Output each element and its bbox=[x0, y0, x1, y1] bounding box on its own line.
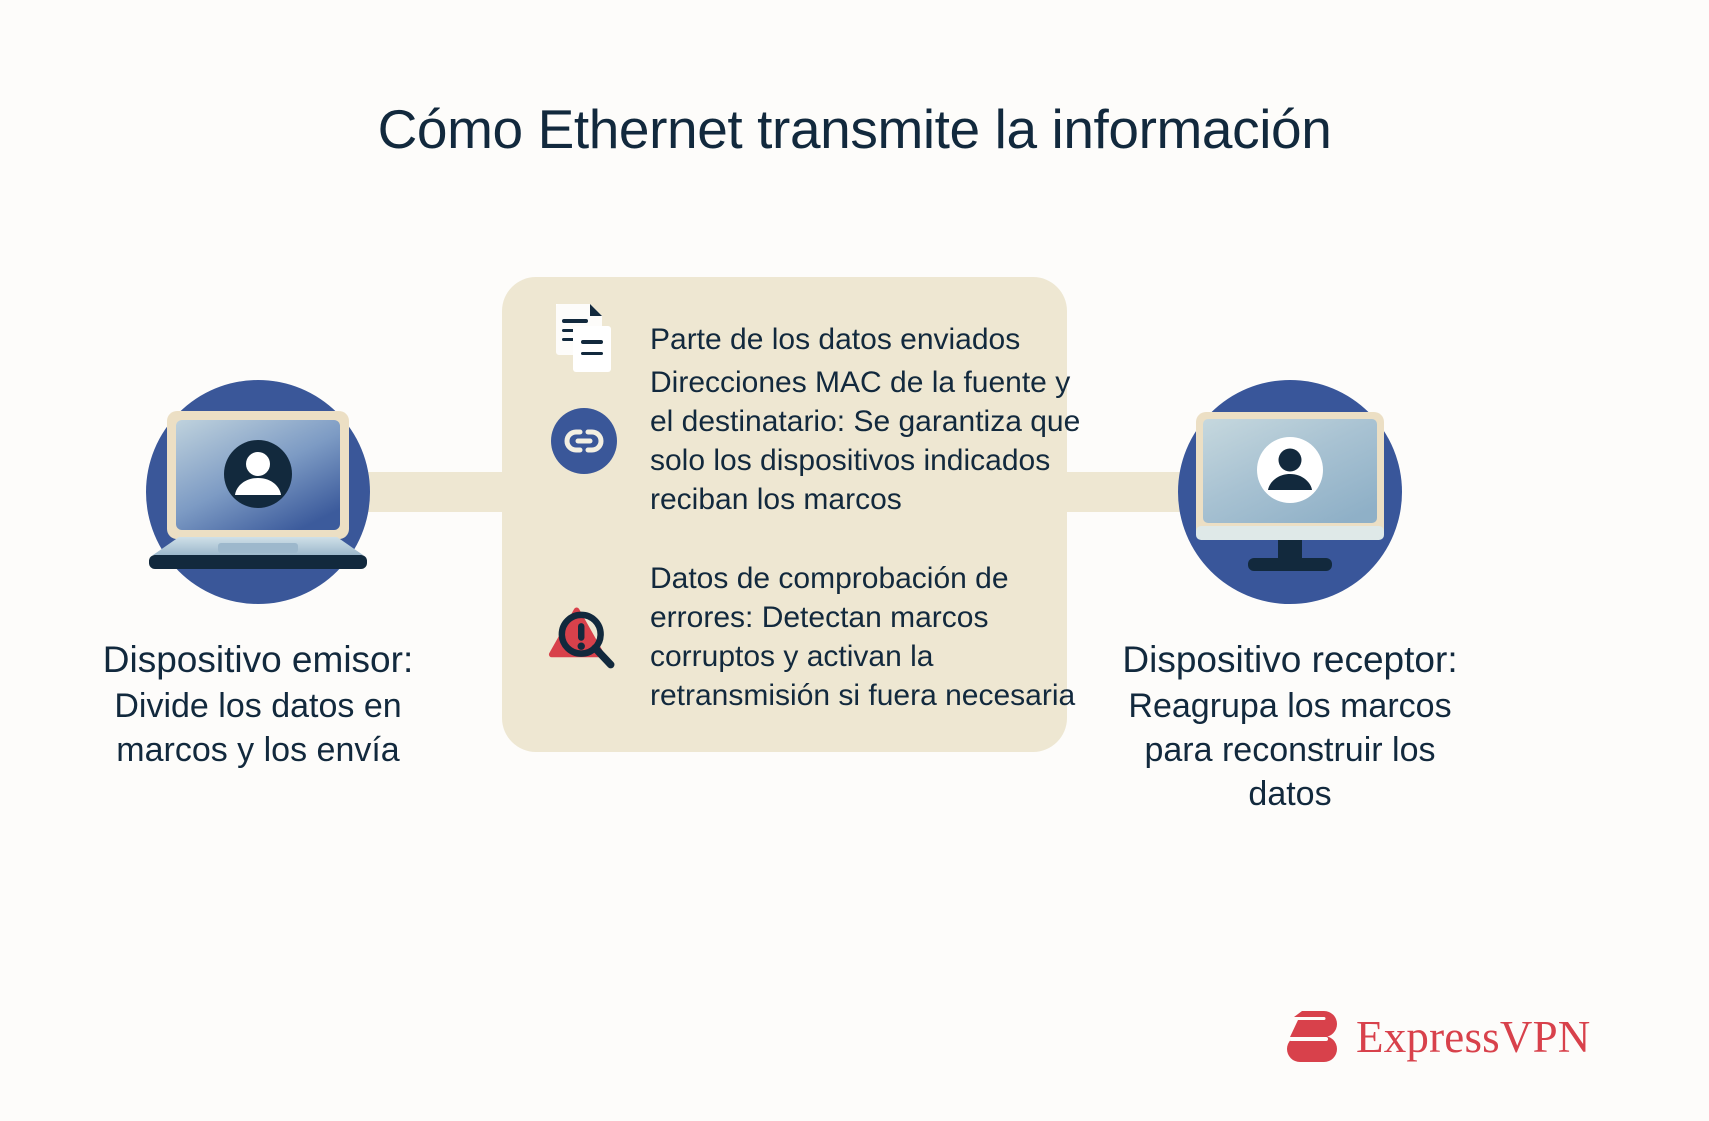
frame-item-error-checking: Datos de comprobación de errores: Detect… bbox=[548, 559, 1090, 715]
sender-caption: Dispositivo emisor: Divide los datos en … bbox=[58, 636, 458, 772]
sender-disc bbox=[146, 380, 370, 604]
frame-item-text: Parte de los datos enviados bbox=[650, 320, 1090, 359]
frame-item-text: Direcciones MAC de la fuente y el destin… bbox=[650, 363, 1090, 519]
frame-contents-list: Parte de los datos enviados Direcciones … bbox=[502, 277, 1132, 752]
sender-node: Dispositivo emisor: Divide los datos en … bbox=[58, 380, 458, 772]
receiver-desc-line-3: datos bbox=[1090, 772, 1490, 816]
sender-title: Dispositivo emisor: bbox=[58, 636, 458, 684]
expressvpn-logo: ExpressVPN bbox=[1278, 1008, 1591, 1066]
receiver-caption: Dispositivo receptor: Reagrupa los marco… bbox=[1090, 636, 1490, 816]
receiver-desc-line-2: para reconstruir los bbox=[1090, 728, 1490, 772]
sender-desc-line-2: marcos y los envía bbox=[58, 728, 458, 772]
receiver-disc bbox=[1178, 380, 1402, 604]
receiver-title: Dispositivo receptor: bbox=[1090, 636, 1490, 684]
laptop-user-icon bbox=[143, 407, 373, 577]
frame-item-mac-addresses: Direcciones MAC de la fuente y el destin… bbox=[548, 363, 1090, 519]
page-title: Cómo Ethernet transmite la información bbox=[0, 96, 1709, 162]
frame-item-text: Datos de comprobación de errores: Detect… bbox=[650, 559, 1090, 715]
receiver-desc-line-1: Reagrupa los marcos bbox=[1090, 684, 1490, 728]
link-icon bbox=[548, 405, 620, 477]
error-check-icon bbox=[548, 601, 620, 673]
expressvpn-e-mark-icon bbox=[1278, 1008, 1340, 1066]
monitor-user-icon bbox=[1190, 408, 1390, 576]
receiver-node: Dispositivo receptor: Reagrupa los marco… bbox=[1090, 380, 1490, 816]
sender-desc-line-1: Divide los datos en bbox=[58, 684, 458, 728]
expressvpn-wordmark: ExpressVPN bbox=[1356, 1015, 1591, 1060]
